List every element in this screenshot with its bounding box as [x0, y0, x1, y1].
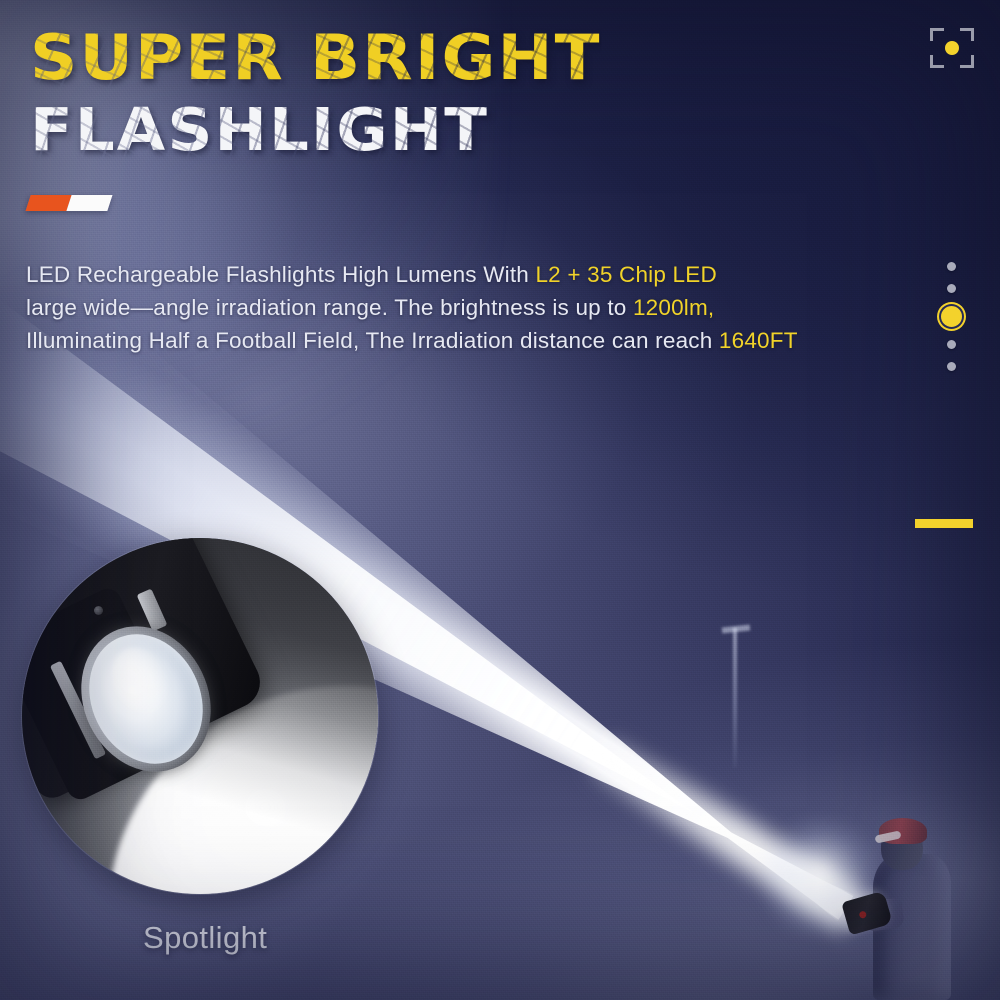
- product-banner: Spotlight SUPER BRIGHT FLASHLIGHT LED Re…: [0, 0, 1000, 1000]
- description-line-1-highlight: L2 + 35 Chip LED: [535, 262, 716, 287]
- carousel-dot-5[interactable]: [947, 362, 956, 371]
- focus-frame-icon: [930, 28, 974, 68]
- spotlight-inset-circle: [22, 538, 378, 894]
- description-line-1-text: LED Rechargeable Flashlights High Lumens…: [26, 262, 535, 287]
- beam-hotspot: [586, 732, 868, 935]
- description-line-3-text: Illuminating Half a Football Field, The …: [26, 328, 719, 353]
- headline-line-1: SUPER BRIGHT: [30, 22, 602, 94]
- flashlight-button-icon: [858, 910, 867, 919]
- carousel-dot-2[interactable]: [947, 284, 956, 293]
- page-title: SUPER BRIGHT FLASHLIGHT: [30, 22, 569, 166]
- accent-rule: [25, 195, 112, 211]
- description-line-2: large wide—angle irradiation range. The …: [26, 291, 926, 324]
- flashlight-screw-icon: [94, 606, 103, 615]
- description-text: LED Rechargeable Flashlights High Lumens…: [26, 258, 926, 357]
- focus-corner-top-right-icon: [960, 28, 974, 41]
- spotlight-caption: Spotlight: [143, 920, 267, 956]
- background-pole-icon: [733, 628, 737, 768]
- carousel-dot-4[interactable]: [947, 340, 956, 349]
- description-line-2-highlight: 1200lm,: [633, 295, 714, 320]
- description-line-3-highlight: 1640FT: [719, 328, 798, 353]
- carousel-dot-3[interactable]: [941, 306, 962, 327]
- focus-center-dot-icon: [945, 41, 959, 55]
- person-with-flashlight: [845, 808, 985, 1000]
- carousel-dots[interactable]: [941, 262, 962, 371]
- focus-corner-bottom-right-icon: [960, 55, 974, 68]
- headline-line-2: FLASHLIGHT: [30, 94, 602, 166]
- background-pole-crossbar: [722, 625, 750, 634]
- focus-corner-top-left-icon: [930, 28, 944, 41]
- focus-corner-bottom-left-icon: [930, 55, 944, 68]
- yellow-dash-rule: [915, 519, 973, 528]
- description-line-3: Illuminating Half a Football Field, The …: [26, 324, 926, 357]
- description-line-1: LED Rechargeable Flashlights High Lumens…: [26, 258, 926, 291]
- description-line-2-text: large wide—angle irradiation range. The …: [26, 295, 633, 320]
- carousel-dot-1[interactable]: [947, 262, 956, 271]
- accent-rule-white: [66, 195, 112, 211]
- accent-rule-orange: [25, 195, 71, 211]
